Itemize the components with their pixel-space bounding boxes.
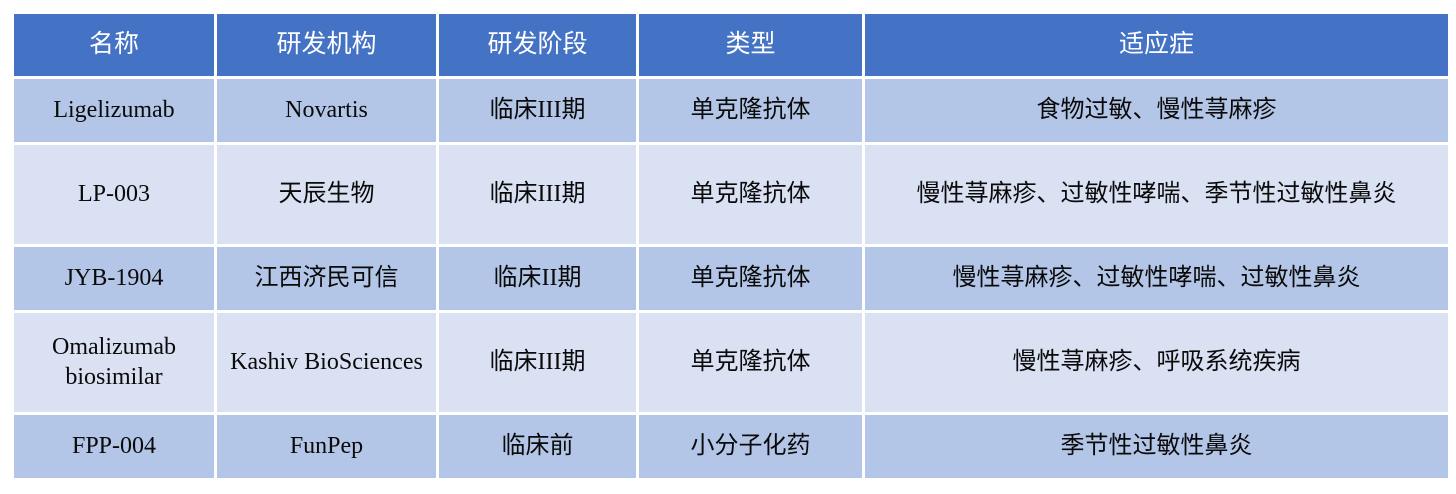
cell-org: FunPep [217, 415, 436, 478]
cell-type: 小分子化药 [639, 415, 862, 478]
cell-stage: 临床III期 [439, 79, 636, 142]
column-header-name: 名称 [14, 14, 214, 76]
column-header-indication: 适应症 [865, 14, 1448, 76]
cell-type: 单克隆抗体 [639, 79, 862, 142]
cell-indication: 食物过敏、慢性荨麻疹 [865, 79, 1448, 142]
cell-name: Ligelizumab [14, 79, 214, 142]
column-header-stage: 研发阶段 [439, 14, 636, 76]
table-row: Omalizumab biosimilar Kashiv BioSciences… [14, 313, 1448, 412]
table-row: Ligelizumab Novartis 临床III期 单克隆抗体 食物过敏、慢… [14, 79, 1448, 142]
header-row: 名称 研发机构 研发阶段 类型 适应症 [14, 14, 1448, 76]
cell-org: Kashiv BioSciences [217, 313, 436, 412]
table-container: 名称 研发机构 研发阶段 类型 适应症 Ligelizumab Novartis… [14, 14, 1442, 480]
cell-org: 江西济民可信 [217, 247, 436, 310]
cell-indication: 慢性荨麻疹、呼吸系统疾病 [865, 313, 1448, 412]
table-row: LP-003 天辰生物 临床III期 单克隆抗体 慢性荨麻疹、过敏性哮喘、季节性… [14, 145, 1448, 244]
cell-indication: 季节性过敏性鼻炎 [865, 415, 1448, 478]
cell-indication: 慢性荨麻疹、过敏性哮喘、过敏性鼻炎 [865, 247, 1448, 310]
cell-stage: 临床III期 [439, 313, 636, 412]
cell-name: FPP-004 [14, 415, 214, 478]
cell-indication: 慢性荨麻疹、过敏性哮喘、季节性过敏性鼻炎 [865, 145, 1448, 244]
cell-type: 单克隆抗体 [639, 313, 862, 412]
cell-type: 单克隆抗体 [639, 247, 862, 310]
column-header-org: 研发机构 [217, 14, 436, 76]
cell-org: Novartis [217, 79, 436, 142]
table-header: 名称 研发机构 研发阶段 类型 适应症 [14, 14, 1448, 76]
cell-stage: 临床前 [439, 415, 636, 478]
table-body: Ligelizumab Novartis 临床III期 单克隆抗体 食物过敏、慢… [14, 79, 1448, 478]
cell-name: LP-003 [14, 145, 214, 244]
pipeline-table: 名称 研发机构 研发阶段 类型 适应症 Ligelizumab Novartis… [11, 11, 1451, 481]
column-header-type: 类型 [639, 14, 862, 76]
cell-name: Omalizumab biosimilar [14, 313, 214, 412]
cell-org: 天辰生物 [217, 145, 436, 244]
table-row: FPP-004 FunPep 临床前 小分子化药 季节性过敏性鼻炎 [14, 415, 1448, 478]
cell-stage: 临床III期 [439, 145, 636, 244]
table-row: JYB-1904 江西济民可信 临床II期 单克隆抗体 慢性荨麻疹、过敏性哮喘、… [14, 247, 1448, 310]
cell-name: JYB-1904 [14, 247, 214, 310]
cell-type: 单克隆抗体 [639, 145, 862, 244]
cell-stage: 临床II期 [439, 247, 636, 310]
